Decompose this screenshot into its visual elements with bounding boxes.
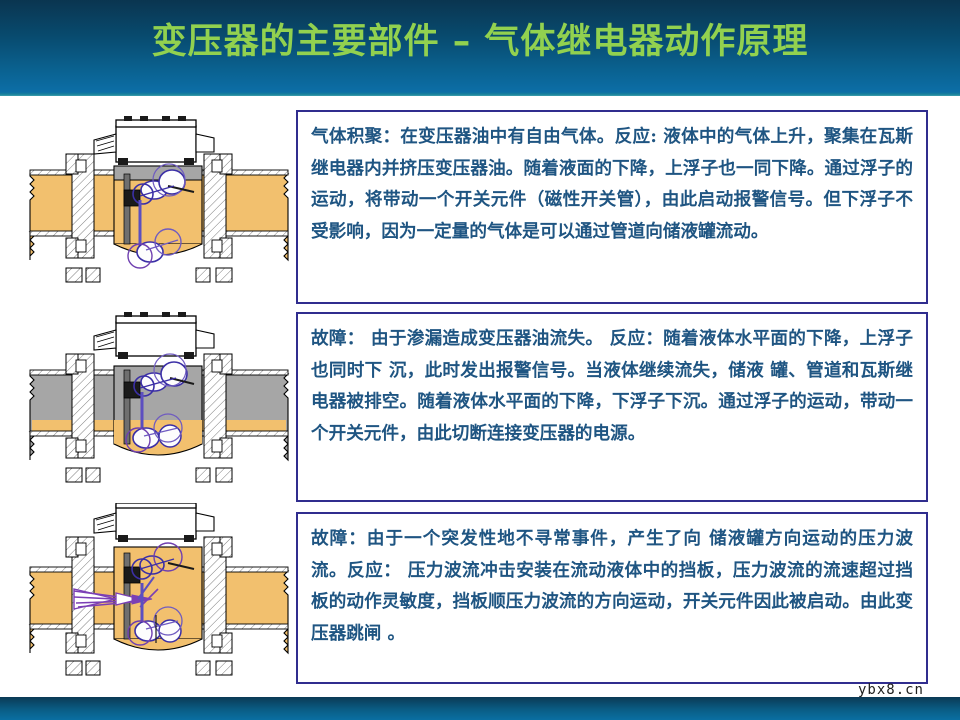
slide-canvas: 变压器的主要部件 – 气体继电器动作原理 <box>0 0 960 720</box>
diagram-buchholz-relay-oil-loss <box>28 308 290 498</box>
textbox-oil-loss-fault: 故障： 由于渗漏造成变压器油流失。 反应：随着液体水平面的下降，上浮子也同时下 … <box>296 312 928 502</box>
slide-footer-band <box>0 697 960 720</box>
header-separator-rule <box>0 92 960 96</box>
textbox-pressure-surge-fault: 故障：由于一个突发性地不寻常事件，产生了向 储液罐方向运动的压力波流。反应： 压… <box>296 512 928 684</box>
diagram-buchholz-relay-pressure-surge <box>28 503 290 693</box>
watermark-label: ybx8.cn <box>764 682 924 698</box>
page-title: 变压器的主要部件 – 气体继电器动作原理 <box>0 18 960 66</box>
textbox-gas-accumulation: 气体积聚：在变压器油中有自由气体。反应: 液体中的气体上升，聚集在瓦斯继电器内并… <box>296 110 928 304</box>
diagram-buchholz-relay-gas-accumulation <box>28 108 290 298</box>
